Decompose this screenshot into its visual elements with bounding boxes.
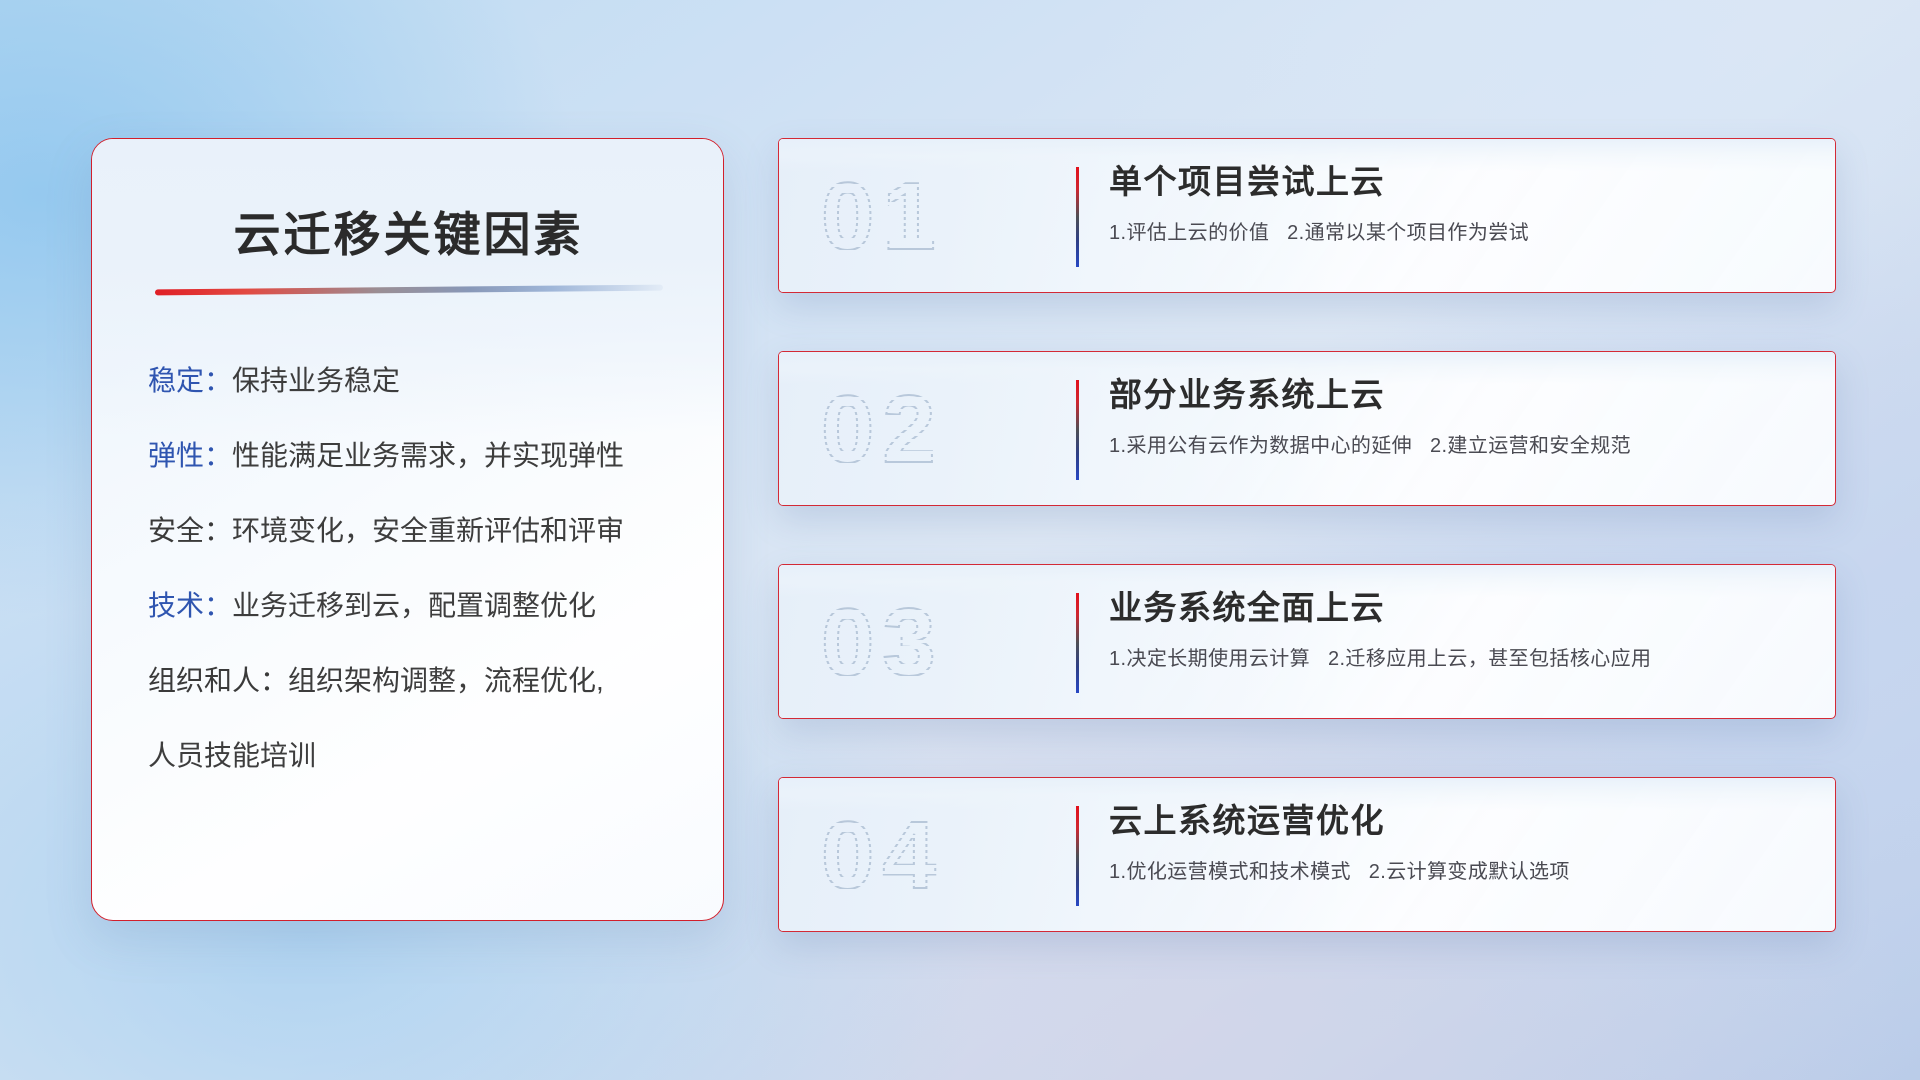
list-item-value: 性能满足业务需求，并实现弹性 [232,440,624,471]
step-divider-line [1076,806,1079,906]
list-item-key: 稳定： [148,365,232,396]
list-item-key: 技术： [148,590,232,621]
list-item: 稳定：保持业务稳定 [148,367,669,395]
list-item-key: 组织和人： [148,665,288,696]
step-title: 单个项目尝试上云 [1109,163,1795,201]
step-title: 业务系统全面上云 [1109,589,1795,627]
step-card-04[interactable]: 04 云上系统运营优化 1.优化运营模式和技术模式 2.云计算变成默认选项 [778,777,1836,932]
title-underline-rule [155,284,663,295]
step-card-02[interactable]: 02 部分业务系统上云 1.采用公有云作为数据中心的延伸 2.建立运营和安全规范 [778,351,1836,506]
step-divider-line [1076,593,1079,693]
key-factors-card-inner: 云迁移关键因素 稳定：保持业务稳定 弹性：性能满足业务需求，并实现弹性 安全：环… [92,139,723,770]
list-item-value: 组织架构调整，流程优化, [288,665,604,696]
step-card-01[interactable]: 01 单个项目尝试上云 1.评估上云的价值 2.通常以某个项目作为尝试 [778,138,1836,293]
step-content: 部分业务系统上云 1.采用公有云作为数据中心的延伸 2.建立运营和安全规范 [1109,376,1795,459]
list-item-value: 保持业务稳定 [232,365,400,396]
step-number-watermark: 02 [821,370,1031,490]
list-item-value: 环境变化，安全重新评估和评审 [232,515,624,546]
step-number-watermark: 03 [821,583,1031,703]
step-title: 云上系统运营优化 [1109,802,1795,840]
key-factors-card: 云迁移关键因素 稳定：保持业务稳定 弹性：性能满足业务需求，并实现弹性 安全：环… [91,138,724,921]
step-description: 1.采用公有云作为数据中心的延伸 2.建立运营和安全规范 [1109,433,1795,459]
list-item-value: 业务迁移到云，配置调整优化 [232,590,596,621]
list-item-key: 弹性： [148,440,232,471]
step-description: 1.决定长期使用云计算 2.迁移应用上云，甚至包括核心应用 [1109,646,1795,672]
step-content: 单个项目尝试上云 1.评估上云的价值 2.通常以某个项目作为尝试 [1109,163,1795,246]
step-description: 1.评估上云的价值 2.通常以某个项目作为尝试 [1109,220,1795,246]
list-item: 安全：环境变化，安全重新评估和评审 [148,517,669,545]
list-item: 技术：业务迁移到云，配置调整优化 [148,592,669,620]
page-title: 云迁移关键因素 [148,209,669,261]
list-item-key: 安全： [148,515,232,546]
list-item-continuation: 人员技能培训 [148,742,669,770]
step-description: 1.优化运营模式和技术模式 2.云计算变成默认选项 [1109,859,1795,885]
step-number-watermark: 01 [821,157,1031,277]
list-item-value: 人员技能培训 [148,740,316,771]
step-title: 部分业务系统上云 [1109,376,1795,414]
slide-canvas: 云迁移关键因素 稳定：保持业务稳定 弹性：性能满足业务需求，并实现弹性 安全：环… [0,0,1920,1080]
key-factors-list: 稳定：保持业务稳定 弹性：性能满足业务需求，并实现弹性 安全：环境变化，安全重新… [148,367,669,770]
list-item: 弹性：性能满足业务需求，并实现弹性 [148,442,669,470]
step-divider-line [1076,380,1079,480]
step-content: 云上系统运营优化 1.优化运营模式和技术模式 2.云计算变成默认选项 [1109,802,1795,885]
migration-steps-list: 01 单个项目尝试上云 1.评估上云的价值 2.通常以某个项目作为尝试 02 部… [778,138,1836,932]
step-divider-line [1076,167,1079,267]
list-item: 组织和人：组织架构调整，流程优化, [148,667,669,695]
step-card-03[interactable]: 03 业务系统全面上云 1.决定长期使用云计算 2.迁移应用上云，甚至包括核心应… [778,564,1836,719]
step-number-watermark: 04 [821,796,1031,916]
step-content: 业务系统全面上云 1.决定长期使用云计算 2.迁移应用上云，甚至包括核心应用 [1109,589,1795,672]
